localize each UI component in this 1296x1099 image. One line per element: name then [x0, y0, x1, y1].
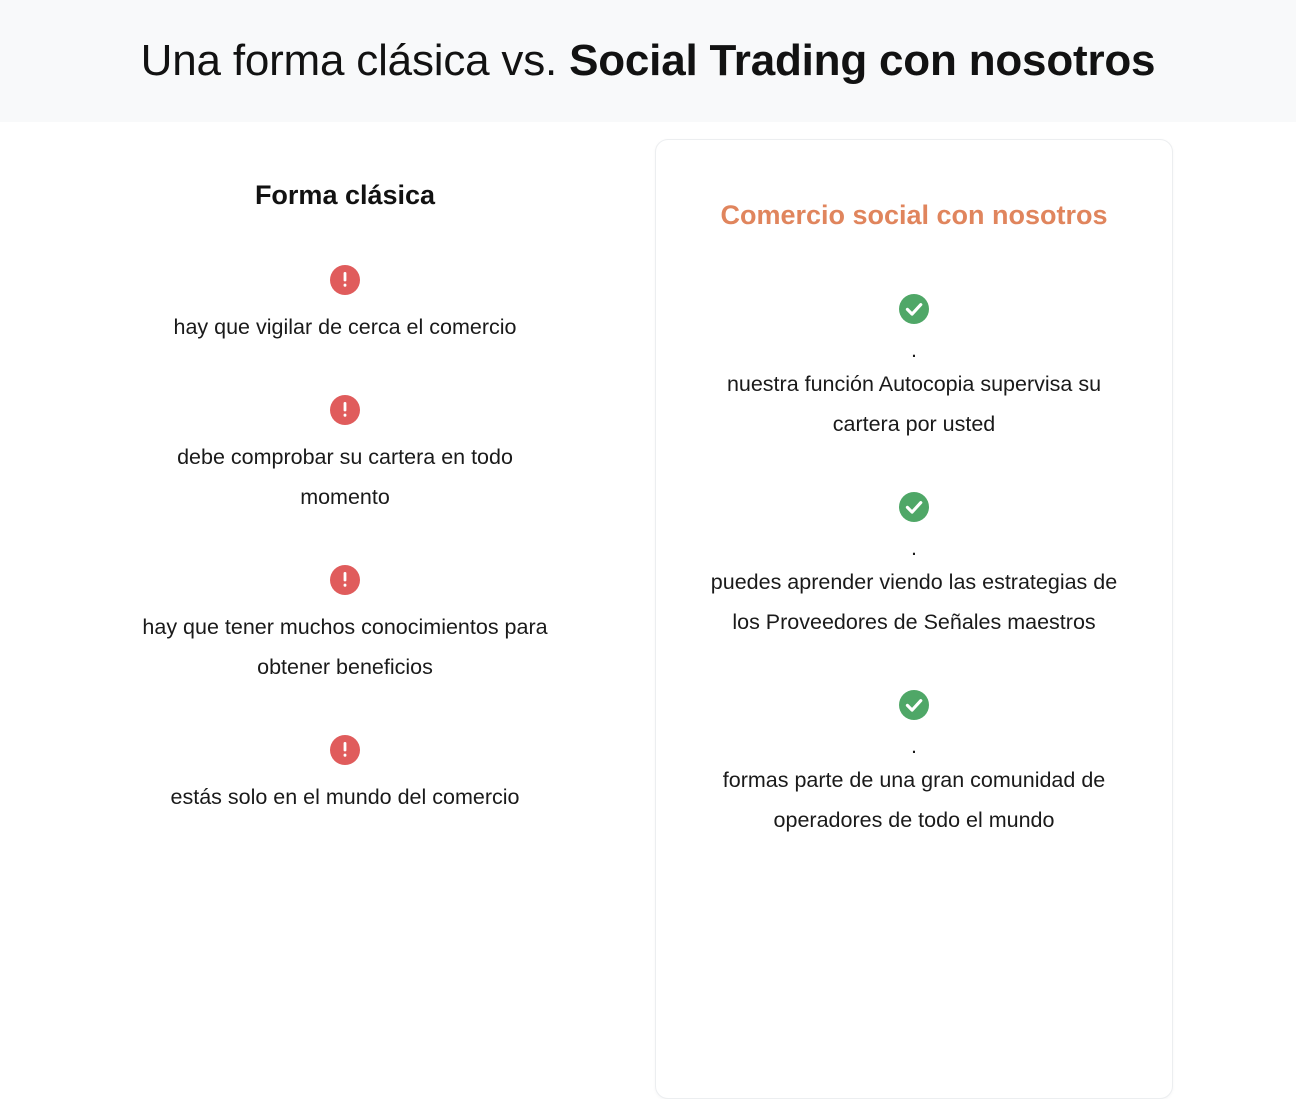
page-title-strong: Social Trading con nosotros	[569, 36, 1155, 85]
classic-item: hay que vigilar de cerca el comercio	[102, 265, 588, 347]
classic-item-text: hay que vigilar de cerca el comercio	[135, 307, 555, 347]
exclamation-icon	[330, 565, 360, 595]
social-item-text: formas parte de una gran comunidad de op…	[704, 760, 1124, 840]
classic-item: hay que tener muchos conocimientos para …	[102, 565, 588, 687]
check-icon	[899, 492, 929, 522]
header-banner: Una forma clásica vs. Social Trading con…	[0, 0, 1296, 122]
social-item-dot: .	[690, 534, 1138, 562]
check-icon	[899, 294, 929, 324]
comparison-page: Una forma clásica vs. Social Trading con…	[0, 0, 1296, 1068]
exclamation-icon	[330, 265, 360, 295]
social-item-text: puedes aprender viendo las estrategias d…	[704, 562, 1124, 642]
classic-item: debe comprobar su cartera en todo moment…	[102, 395, 588, 517]
page-title-plain: Una forma clásica vs.	[141, 36, 569, 85]
classic-item-text: hay que tener muchos conocimientos para …	[135, 607, 555, 687]
social-item-dot: .	[690, 336, 1138, 364]
social-item: . nuestra función Autocopia supervisa su…	[690, 294, 1138, 444]
social-column-heading: Comercio social con nosotros	[690, 196, 1138, 234]
page-title: Una forma clásica vs. Social Trading con…	[141, 35, 1156, 87]
classic-column-heading: Forma clásica	[102, 178, 588, 213]
social-trading-column: Comercio social con nosotros . nuestra f…	[655, 139, 1173, 1099]
classic-item-text: debe comprobar su cartera en todo moment…	[135, 437, 555, 517]
exclamation-icon	[330, 395, 360, 425]
social-item: . formas parte de una gran comunidad de …	[690, 690, 1138, 840]
check-icon	[899, 690, 929, 720]
classic-item: estás solo en el mundo del comercio	[102, 735, 588, 817]
social-item-text: nuestra función Autocopia supervisa su c…	[704, 364, 1124, 444]
exclamation-icon	[330, 735, 360, 765]
comparison-columns: Forma clásica hay que vigilar de cerca e…	[0, 122, 1296, 1068]
classic-item-text: estás solo en el mundo del comercio	[135, 777, 555, 817]
classic-way-column: Forma clásica hay que vigilar de cerca e…	[62, 122, 628, 1068]
social-item-dot: .	[690, 732, 1138, 760]
social-item: . puedes aprender viendo las estrategias…	[690, 492, 1138, 642]
